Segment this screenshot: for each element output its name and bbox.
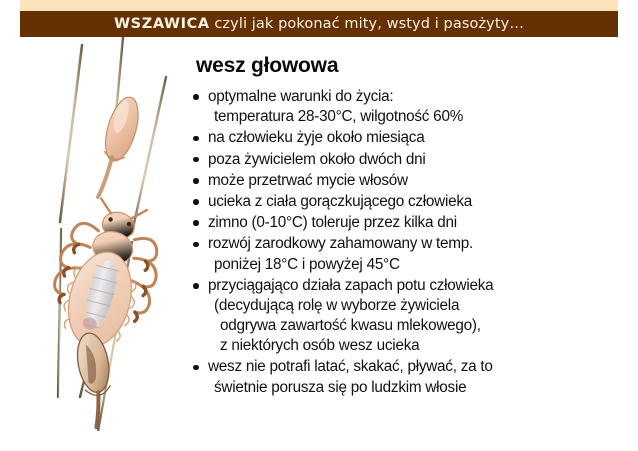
list-item: na człowieku żyje około miesiąca <box>186 128 618 148</box>
list-item: optymalne warunki do życia:temperatura 2… <box>186 87 618 127</box>
nit-lower <box>73 331 119 429</box>
content-panel: wesz głowowa optymalne warunki do życia:… <box>178 37 618 431</box>
bullet-dot-icon <box>193 242 199 248</box>
slide-title-bar: WSZAWICA czyli jak pokonać mity, wstyd i… <box>20 11 618 37</box>
list-item-line: z niektórych osób wesz ucieka <box>208 336 618 356</box>
list-item: przyciągająco działa zapach potu człowie… <box>186 276 618 357</box>
list-item: ucieka z ciała gorączkującego człowieka <box>186 192 618 212</box>
slide-title-rest: czyli jak pokonać mity, wstyd i pasożyty… <box>210 16 524 32</box>
head-louse-illustration <box>20 37 178 431</box>
list-item: zimno (0-10°C) toleruje przez kilka dni <box>186 213 618 233</box>
list-item-line: wesz nie potrafi latać, skakać, pływać, … <box>208 357 618 377</box>
bullet-dot-icon <box>193 199 199 205</box>
bullet-dot-icon <box>193 157 199 163</box>
list-item-line: przyciągająco działa zapach potu człowie… <box>208 276 618 296</box>
slide-title: WSZAWICA czyli jak pokonać mity, wstyd i… <box>114 17 524 32</box>
louse-antenna-left <box>98 199 114 214</box>
list-item: rozwój zarodkowy zahamowany w temp.poniż… <box>186 234 618 274</box>
list-item-line: ucieka z ciała gorączkującego człowieka <box>208 192 618 212</box>
list-item-line: może przetrwać mycie włosów <box>208 171 618 191</box>
list-item-line: optymalne warunki do życia: <box>208 87 618 107</box>
list-item-line: temperatura 28-30°C, wilgotność 60% <box>208 107 618 127</box>
list-item-line: rozwój zarodkowy zahamowany w temp. <box>208 234 618 254</box>
nit-upper <box>99 94 144 165</box>
list-item: wesz nie potrafi latać, skakać, pływać, … <box>186 357 618 397</box>
slide-title-keyword: WSZAWICA <box>114 16 210 32</box>
bullet-dot-icon <box>193 365 199 371</box>
bullet-dot-icon <box>193 178 199 184</box>
bullet-list: optymalne warunki do życia:temperatura 2… <box>186 87 618 399</box>
list-item-line: na człowieku żyje około miesiąca <box>208 128 618 148</box>
slide: WSZAWICA czyli jak pokonać mity, wstyd i… <box>0 0 638 451</box>
list-item-line: świetnie porusza się po ludzkim włosie <box>208 378 618 398</box>
bullet-dot-icon <box>193 136 199 142</box>
list-item: może przetrwać mycie włosów <box>186 171 618 191</box>
list-item-line: poza żywicielem około dwóch dni <box>208 150 618 170</box>
list-item-line: poniżej 18°C i powyżej 45°C <box>208 255 618 275</box>
list-item-line: odgrywa zawartość kwasu mlekowego), <box>208 316 618 336</box>
page-title: wesz głowowa <box>196 54 338 77</box>
illustration-panel <box>20 37 178 431</box>
list-item-line: zimno (0-10°C) toleruje przez kilka dni <box>208 213 618 233</box>
bullet-dot-icon <box>193 283 199 289</box>
bullet-dot-icon <box>193 220 199 226</box>
list-item: poza żywicielem około dwóch dni <box>186 150 618 170</box>
list-item-line: (decydującą rolę w wyborze żywiciela <box>208 296 618 316</box>
bullet-dot-icon <box>193 94 199 100</box>
